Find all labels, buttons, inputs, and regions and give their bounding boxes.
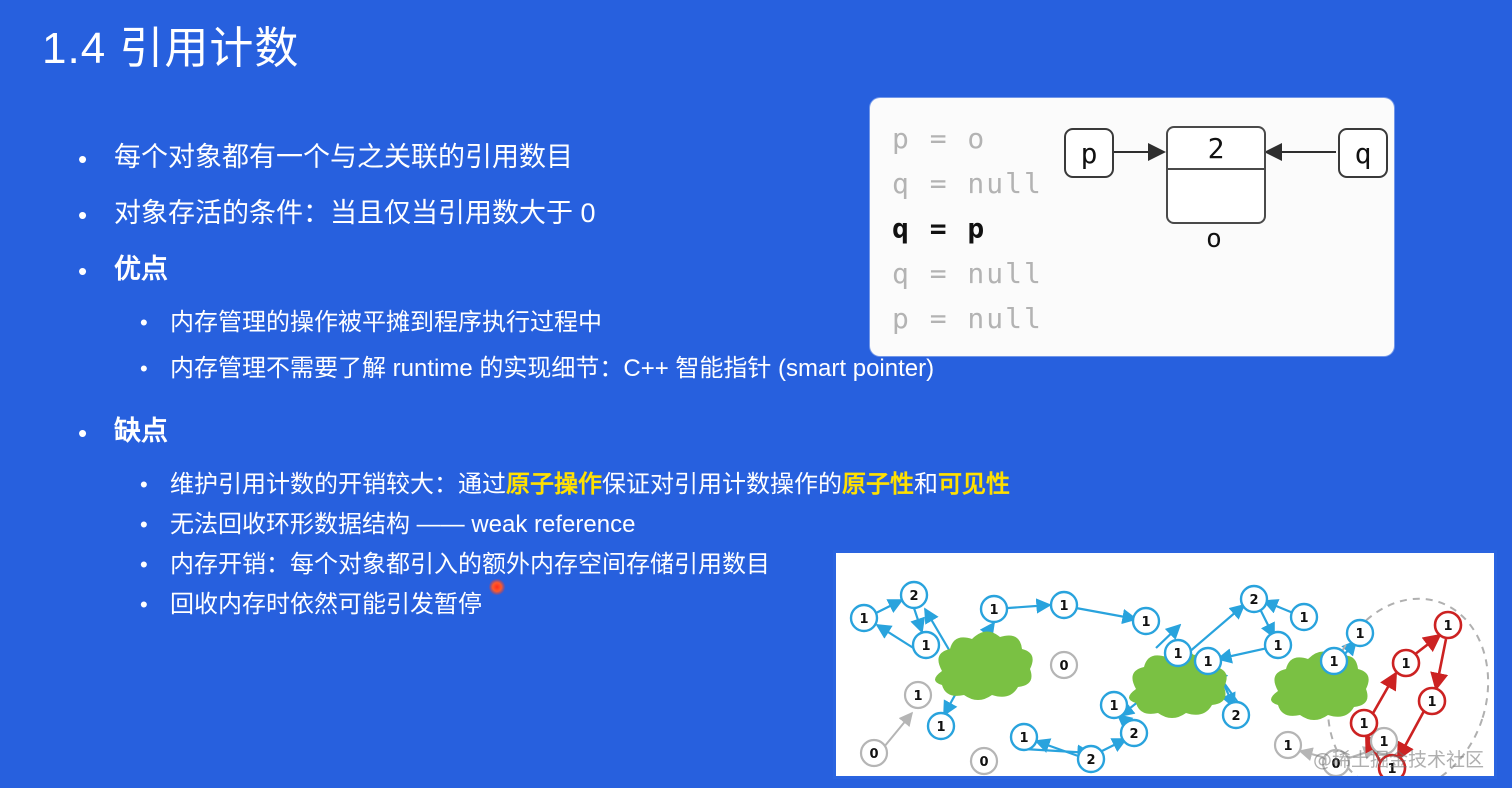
bullet-marker-icon: • xyxy=(78,252,114,284)
pointer-box-q: q xyxy=(1338,128,1388,178)
pointer-diagram: p q 2 o xyxy=(1060,108,1390,288)
pros-2-label: 内存管理不需要了解 runtime 的实现细节：C++ 智能指针 (smart … xyxy=(170,354,934,384)
svg-text:1: 1 xyxy=(1359,717,1368,732)
root-cloud-1 xyxy=(935,631,1033,700)
code-line-3: q = null xyxy=(892,251,1043,296)
bullet-pros-2: • 内存管理不需要了解 runtime 的实现细节：C++ 智能指针 (smar… xyxy=(140,354,1108,384)
cons-1-part-c: 和 xyxy=(914,471,938,498)
svg-text:1: 1 xyxy=(1203,655,1212,670)
svg-text:2: 2 xyxy=(1129,727,1138,742)
code-line-0: p = o xyxy=(892,116,1043,161)
cons-1-highlight-atomic-op: 原子操作 xyxy=(506,471,602,498)
bullet-marker-icon: • xyxy=(78,414,114,446)
slide: 1.4 引用计数 • 每个对象都有一个与之关联的引用数目 • 对象存活的条件：当… xyxy=(0,0,1512,788)
code-line-4: p = null xyxy=(892,296,1043,341)
pros-heading-label: 优点 xyxy=(114,252,168,286)
bullet-marker-icon: • xyxy=(140,354,170,380)
bullet-cons-heading: • 缺点 xyxy=(78,414,1108,448)
object-graph-panel: 1 2 1 1 1 1 1 1 2 1 2 1 2 1 1 1 2 xyxy=(833,550,1497,779)
svg-text:0: 0 xyxy=(1059,659,1068,674)
object-box: 2 xyxy=(1166,126,1266,224)
cons-heading-label: 缺点 xyxy=(114,414,168,448)
cons-3-label: 内存开销：每个对象都引入的额外内存空间存储引用数目 xyxy=(170,550,770,580)
svg-text:1: 1 xyxy=(1059,599,1068,614)
svg-text:1: 1 xyxy=(1173,647,1182,662)
svg-text:1: 1 xyxy=(1329,655,1338,670)
bullet-cons-2: • 无法回收环形数据结构 —— weak reference xyxy=(140,510,1108,540)
svg-text:2: 2 xyxy=(1231,709,1240,724)
svg-text:2: 2 xyxy=(1086,753,1095,768)
svg-text:1: 1 xyxy=(1109,699,1118,714)
object-graph-svg: 1 2 1 1 1 1 1 1 2 1 2 1 2 1 1 1 2 xyxy=(836,553,1494,776)
svg-text:1: 1 xyxy=(921,639,930,654)
svg-text:1: 1 xyxy=(989,603,998,618)
page-title: 1.4 引用计数 xyxy=(42,12,299,76)
svg-text:1: 1 xyxy=(1379,735,1388,750)
bullet-marker-icon: • xyxy=(78,140,114,172)
code-line-2-active: q = p xyxy=(892,206,1043,251)
cons-1-highlight-atomicity: 原子性 xyxy=(842,471,914,498)
svg-text:1: 1 xyxy=(1443,619,1452,634)
bullet-marker-icon: • xyxy=(140,590,170,616)
svg-text:1: 1 xyxy=(1283,739,1292,754)
code-diagram-panel: p = o q = null q = p q = null p = null p… xyxy=(870,98,1394,356)
svg-text:0: 0 xyxy=(1331,757,1340,772)
svg-text:1: 1 xyxy=(1273,639,1282,654)
svg-text:1: 1 xyxy=(913,689,922,704)
svg-text:1: 1 xyxy=(1299,611,1308,626)
cursor-pointer-icon xyxy=(489,579,505,595)
svg-text:0: 0 xyxy=(869,747,878,762)
cons-2-label: 无法回收环形数据结构 —— weak reference xyxy=(170,510,635,540)
svg-text:1: 1 xyxy=(1387,762,1396,776)
cons-1-part-b: 保证对引用计数操作的 xyxy=(602,471,842,498)
bullet-marker-icon: • xyxy=(140,510,170,536)
svg-text:1: 1 xyxy=(1019,731,1028,746)
pros-1-label: 内存管理的操作被平摊到程序执行过程中 xyxy=(170,308,602,338)
svg-text:1: 1 xyxy=(1355,627,1364,642)
svg-text:2: 2 xyxy=(1249,593,1258,608)
svg-text:0: 0 xyxy=(979,755,988,770)
object-refcount: 2 xyxy=(1168,128,1264,170)
cons-4-label: 回收内存时依然可能引发暂停 xyxy=(170,590,482,620)
cons-1-part-a: 维护引用计数的开销较大：通过 xyxy=(170,471,506,498)
code-line-1: q = null xyxy=(892,161,1043,206)
bullet-cons-1: • 维护引用计数的开销较大：通过原子操作保证对引用计数操作的原子性和可见性 xyxy=(140,470,1108,500)
graph-roots xyxy=(935,631,1369,720)
bullet-marker-icon: • xyxy=(78,196,114,228)
bullet-marker-icon: • xyxy=(140,550,170,576)
svg-text:1: 1 xyxy=(936,720,945,735)
bullet-marker-icon: • xyxy=(140,470,170,496)
cons-1-highlight-visibility: 可见性 xyxy=(938,471,1010,498)
bullet-marker-icon: • xyxy=(140,308,170,334)
code-listing: p = o q = null q = p q = null p = null xyxy=(892,116,1043,341)
bullet-item-1-label: 每个对象都有一个与之关联的引用数目 xyxy=(114,140,573,174)
svg-text:1: 1 xyxy=(859,612,868,627)
svg-text:2: 2 xyxy=(909,589,918,604)
cons-1-label: 维护引用计数的开销较大：通过原子操作保证对引用计数操作的原子性和可见性 xyxy=(170,470,1010,500)
bullet-item-2-label: 对象存活的条件：当且仅当引用数大于 0 xyxy=(114,196,596,230)
object-name-label: o xyxy=(1166,224,1262,254)
pointer-box-p: p xyxy=(1064,128,1114,178)
svg-text:1: 1 xyxy=(1141,615,1150,630)
svg-text:1: 1 xyxy=(1401,657,1410,672)
svg-text:1: 1 xyxy=(1427,695,1436,710)
